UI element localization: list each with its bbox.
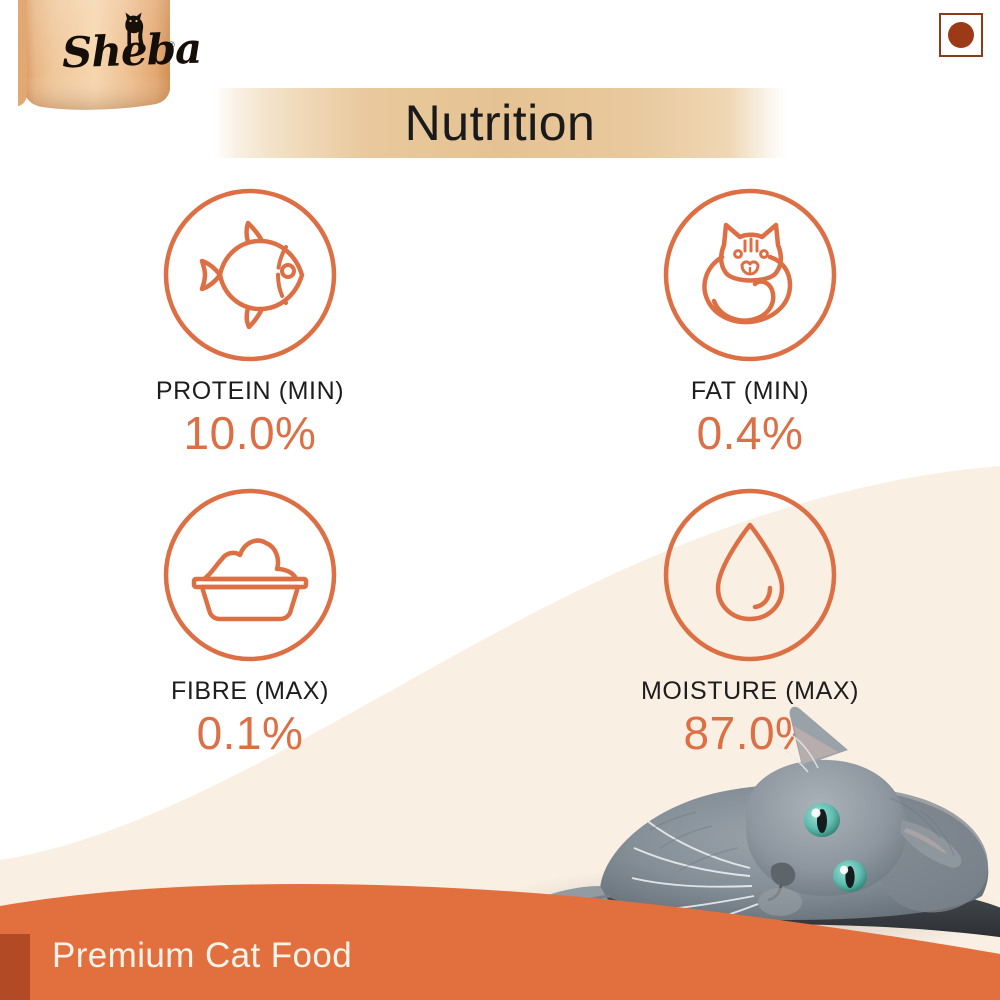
product-nutrition-panel: Sheba ® Nutrition PROTEIN (MIN)	[0, 0, 1000, 1000]
water-droplet-icon	[660, 485, 840, 665]
non-vegetarian-mark	[939, 13, 983, 57]
fish-icon	[160, 185, 340, 365]
food-bowl-icon	[160, 485, 340, 665]
nutrient-item-protein: PROTEIN (MIN) 10.0%	[0, 185, 500, 485]
nutrient-item-fat: FAT (MIN) 0.4%	[500, 185, 1000, 485]
left-edge-strip	[0, 934, 30, 1000]
nutrient-value: 0.4%	[697, 408, 804, 459]
nutrient-label: FIBRE (MAX)	[171, 677, 329, 706]
page-title: Nutrition	[405, 94, 596, 152]
nutrient-value: 0.1%	[197, 708, 304, 759]
footer-banner	[0, 870, 1000, 1000]
cat-icon	[660, 185, 840, 365]
nutrient-label: PROTEIN (MIN)	[156, 377, 344, 406]
nutrient-value: 10.0%	[184, 408, 317, 459]
nutrient-label: FAT (MIN)	[691, 377, 809, 406]
logo-trademark: ®	[168, 40, 175, 50]
logo-wordmark: Sheba	[61, 28, 202, 75]
nutrient-item-fibre: FIBRE (MAX) 0.1%	[0, 485, 500, 780]
sheba-logo: Sheba ®	[18, 0, 178, 116]
non-vegetarian-dot-icon	[948, 22, 974, 48]
nutrition-title-band: Nutrition	[214, 88, 786, 158]
footer-tagline: Premium Cat Food	[52, 936, 352, 976]
